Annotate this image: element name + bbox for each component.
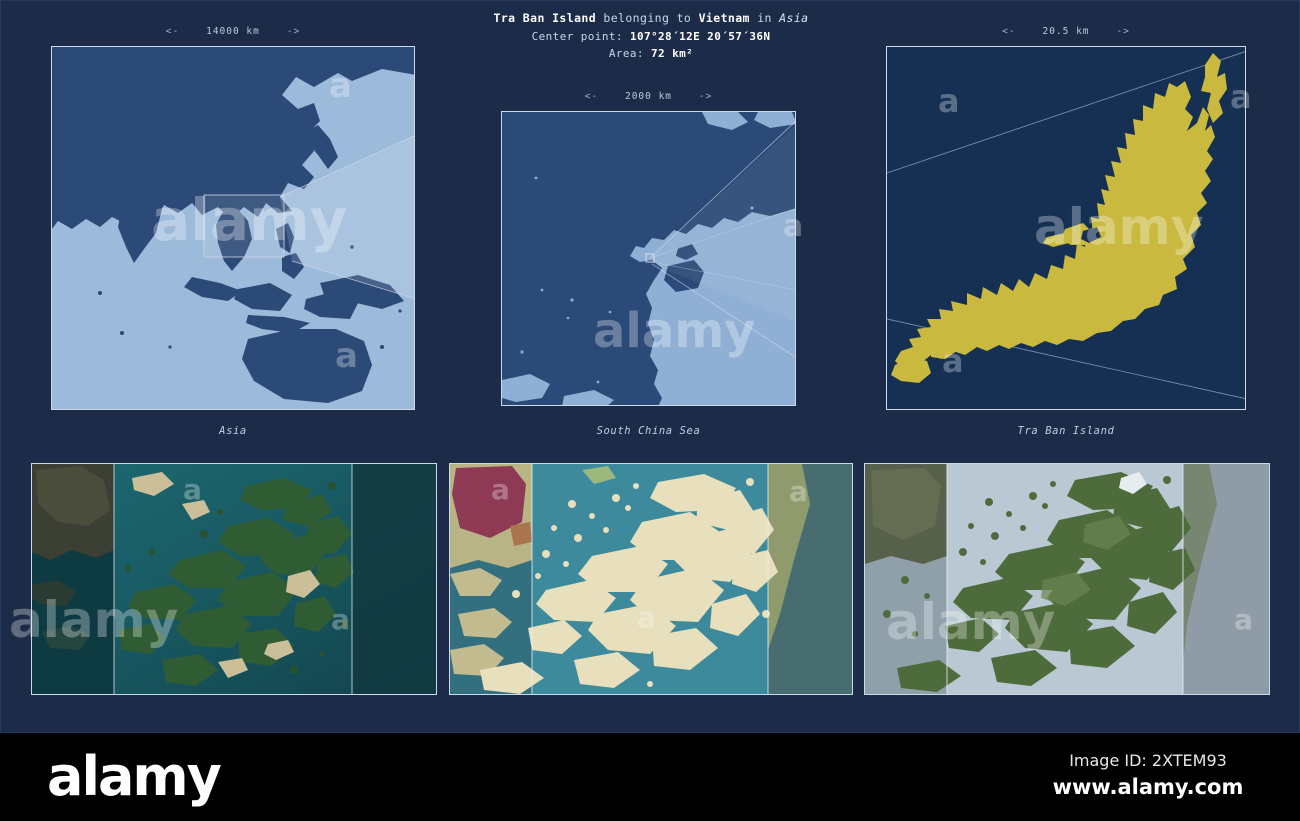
in-text: in — [757, 11, 772, 25]
scale-value: 20.5 km — [1042, 26, 1089, 37]
map-panel-asia[interactable]: <- 14000 km -> — [51, 46, 415, 410]
caption-south-china-sea: South China Sea — [501, 425, 796, 437]
alamy-logo: alamy — [47, 745, 220, 808]
scalebar-asia: <- 14000 km -> — [51, 26, 415, 37]
map-panel-south-china-sea[interactable]: <- 2000 km -> — [501, 111, 796, 406]
scale-arrow-left: <- — [585, 91, 598, 102]
center-point-label: Center point: — [532, 30, 623, 43]
scalebar-sea: <- 2000 km -> — [501, 91, 796, 102]
satellite-image — [32, 464, 437, 695]
island-map-frame — [886, 46, 1246, 410]
figure-page: Tra Ban Island belonging to Vietnam in A… — [0, 0, 1300, 821]
scale-arrow-right: -> — [287, 26, 300, 37]
caption-asia: Asia — [51, 425, 415, 437]
continent-name: Asia — [779, 11, 808, 25]
relief-frame — [864, 463, 1270, 695]
map-figure-canvas: Tra Ban Island belonging to Vietnam in A… — [0, 0, 1300, 733]
alamy-footer-bar: alamy Image ID: 2XTEM93 www.alamy.com — [0, 733, 1300, 821]
center-point-value: 107°28´12E 20´57´36N — [630, 30, 770, 43]
scale-arrow-left: <- — [166, 26, 179, 37]
area-label: Area: — [609, 47, 644, 60]
imagery-panel-satellite[interactable]: alamy a a — [31, 463, 437, 695]
scale-arrow-right: -> — [1116, 26, 1129, 37]
map-panel-tra-ban-island[interactable]: <- 20.5 km -> — [886, 46, 1246, 410]
scale-value: 2000 km — [625, 91, 672, 102]
country-name: Vietnam — [699, 11, 750, 25]
imagery-panel-relief[interactable]: alamy a — [864, 463, 1270, 695]
sea-map-frame — [501, 111, 796, 406]
osm-frame — [449, 463, 853, 695]
alamy-url-label[interactable]: www.alamy.com — [1018, 775, 1278, 799]
scalebar-island: <- 20.5 km -> — [886, 26, 1246, 37]
asia-map-svg — [52, 47, 415, 410]
image-id-label: Image ID: 2XTEM93 — [1018, 751, 1278, 770]
osm-map-image — [450, 464, 853, 695]
relief-map-image — [865, 464, 1270, 695]
island-map-svg — [887, 47, 1246, 410]
belonging-text: belonging to — [603, 11, 691, 25]
area-value: 72 km² — [651, 47, 693, 60]
asia-map-frame — [51, 46, 415, 410]
sea-map-svg — [502, 112, 796, 406]
scale-value: 14000 km — [206, 26, 260, 37]
feature-name: Tra Ban Island — [494, 11, 597, 25]
scale-arrow-left: <- — [1002, 26, 1015, 37]
satellite-frame — [31, 463, 437, 695]
scale-arrow-right: -> — [699, 91, 712, 102]
imagery-panel-osm[interactable]: a a a — [449, 463, 853, 695]
caption-tra-ban-island: Tra Ban Island — [886, 425, 1246, 437]
